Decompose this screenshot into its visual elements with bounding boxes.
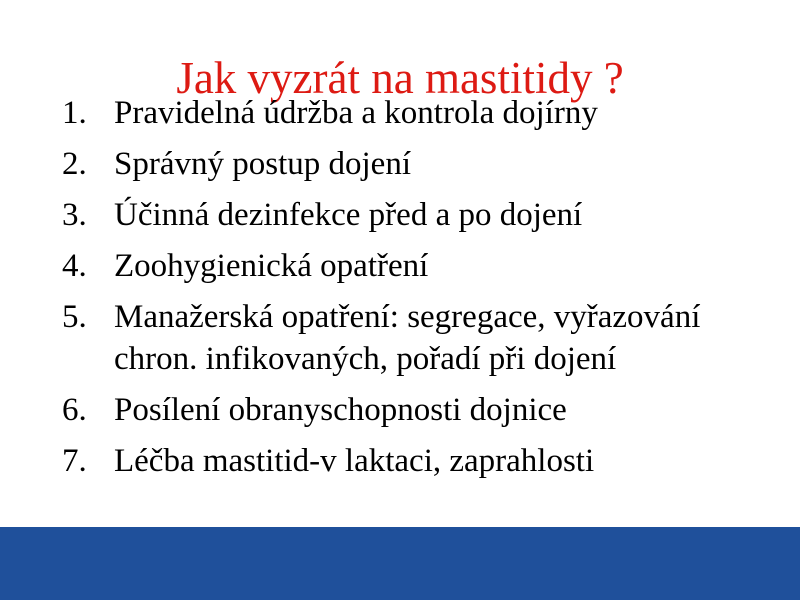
list-item-number: 7.	[62, 440, 102, 482]
list-item-text: Účinná dezinfekce před a po dojení	[114, 194, 772, 236]
list-item: 3. Účinná dezinfekce před a po dojení	[62, 194, 772, 236]
list-item: 2. Správný postup dojení	[62, 143, 772, 185]
list-item: 5. Manažerská opatření: segregace, vyřaz…	[62, 296, 772, 380]
list-item-number: 1.	[62, 92, 102, 134]
list-item-number: 5.	[62, 296, 102, 338]
list-item-text: Správný postup dojení	[114, 143, 772, 185]
list-item-number: 3.	[62, 194, 102, 236]
list-item: 4. Zoohygienická opatření	[62, 245, 772, 287]
footer-bar: www.milkprogres.cz MilkProgres poradenst…	[0, 527, 800, 600]
list-item-text: Zoohygienická opatření	[114, 245, 772, 287]
slide-canvas: Jak vyzrát na mastitidy ? 1. Pravidelná …	[0, 0, 800, 600]
list-item: 6. Posílení obranyschopnosti dojnice	[62, 389, 772, 431]
list-item-number: 2.	[62, 143, 102, 185]
list-item-number: 4.	[62, 245, 102, 287]
list-item-number: 6.	[62, 389, 102, 431]
list-item-text: Pravidelná údržba a kontrola dojírny	[114, 92, 772, 134]
list-item-text: Manažerská opatření: segregace, vyřazová…	[114, 296, 772, 380]
list-item-text: Posílení obranyschopnosti dojnice	[114, 389, 772, 431]
numbered-bullet-list: 1. Pravidelná údržba a kontrola dojírny …	[62, 92, 772, 491]
list-item: 1. Pravidelná údržba a kontrola dojírny	[62, 92, 772, 134]
list-item: 7. Léčba mastitid-v laktaci, zaprahlosti	[62, 440, 772, 482]
list-item-text: Léčba mastitid-v laktaci, zaprahlosti	[114, 440, 772, 482]
